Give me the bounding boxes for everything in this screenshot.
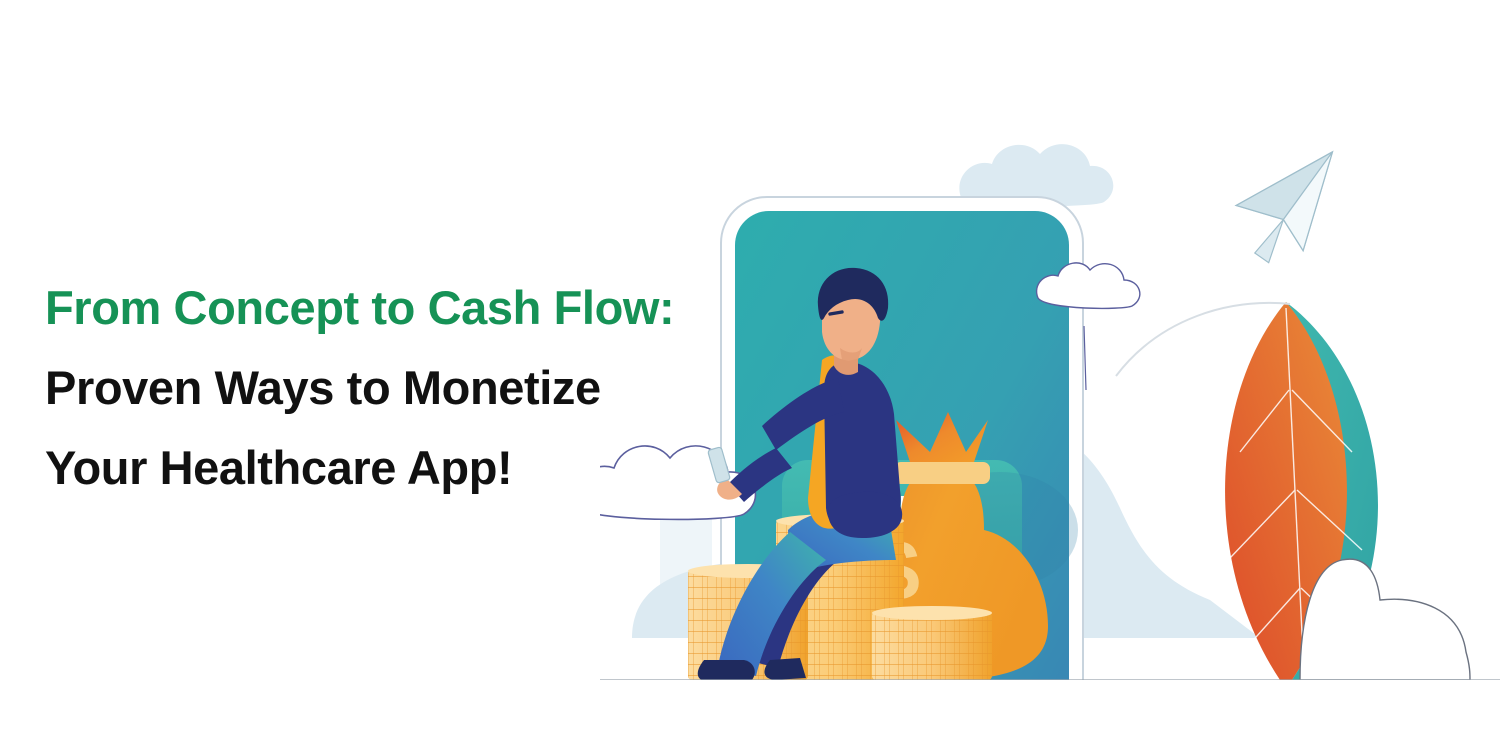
hero-banner: From Concept to Cash Flow: Proven Ways t… [0, 0, 1500, 750]
hero-illustration: Healthcare App! [600, 60, 1500, 680]
character-jacket-flap [828, 492, 902, 538]
money-bag-tie [894, 462, 990, 484]
paper-plane-icon [1230, 152, 1349, 267]
cloud-outline-bottom-right [1300, 559, 1470, 680]
character-shoe [698, 660, 755, 680]
character-shoe-back [764, 658, 806, 680]
cloud-tail-line [1084, 326, 1086, 390]
character-eye [830, 312, 842, 314]
coin-stack-right [872, 606, 992, 680]
